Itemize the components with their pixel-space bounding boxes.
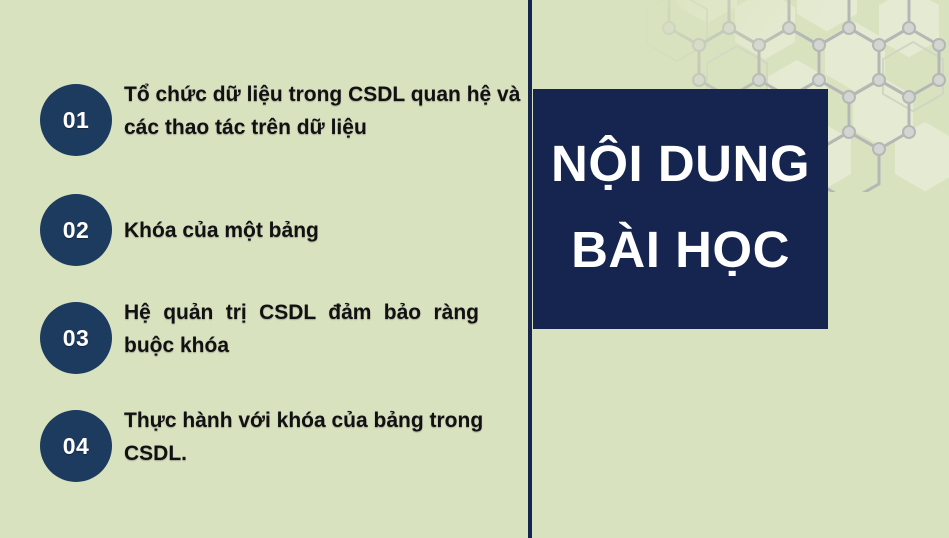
title-line-2: BÀI HỌC — [571, 224, 790, 276]
list-item[interactable]: 04 Thực hành với khóa của bảng trong CSD… — [40, 406, 524, 482]
item-number-badge: 03 — [40, 302, 112, 374]
item-label: Thực hành với khóa của bảng trong CSDL. — [124, 404, 524, 470]
list-item[interactable]: 01 Tổ chức dữ liệu trong CSDL quan hệ và… — [40, 80, 524, 156]
vertical-divider — [528, 0, 532, 538]
item-label: Tổ chức dữ liệu trong CSDL quan hệ và cá… — [124, 78, 524, 144]
item-number-badge: 01 — [40, 84, 112, 156]
item-label: Hệ quản trị CSDL đảm bảo ràng buộc khóa — [124, 296, 479, 362]
title-line-1: NỘI DUNG — [551, 138, 810, 190]
item-label: Khóa của một bảng — [124, 214, 319, 247]
item-number-badge: 04 — [40, 410, 112, 482]
list-item[interactable]: 03 Hệ quản trị CSDL đảm bảo ràng buộc kh… — [40, 297, 479, 374]
slide-canvas: NỘI DUNG BÀI HỌC 01 Tổ chức dữ liệu tron… — [0, 0, 949, 538]
list-item[interactable]: 02 Khóa của một bảng — [40, 194, 319, 266]
item-number-badge: 02 — [40, 194, 112, 266]
lesson-title-card: NỘI DUNG BÀI HỌC — [533, 89, 828, 329]
content-list: 01 Tổ chức dữ liệu trong CSDL quan hệ và… — [0, 0, 528, 538]
